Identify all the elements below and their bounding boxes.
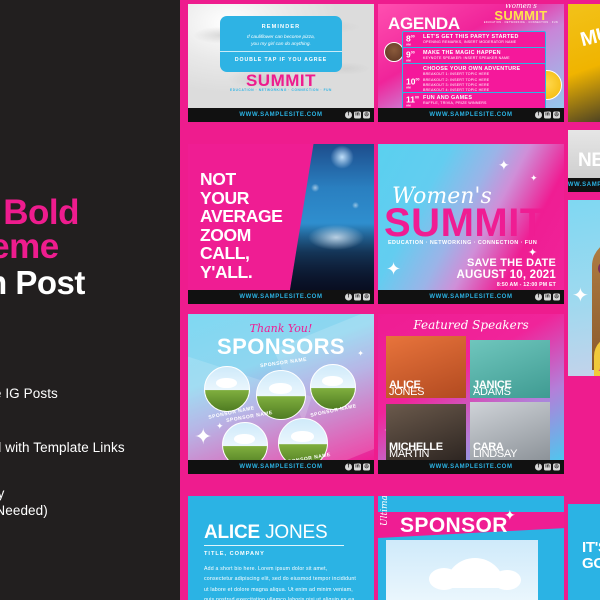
bio-role: TITLE, COMPANY — [204, 551, 265, 557]
reminder-divider — [220, 51, 342, 52]
agenda-logo-main: SUMMIT — [484, 10, 558, 21]
bio-artwork: ALICE JONES TITLE, COMPANY Add a short b… — [188, 496, 374, 600]
promo-bullet-4: count Needed) — [0, 503, 180, 518]
footer-url: WWW.SAMPLESITE.COM — [429, 112, 512, 118]
agenda-row: 1100AM FUN AND GAMES RAFFLE, TRIVIA, PRI… — [402, 92, 546, 108]
facebook-icon: f — [345, 112, 352, 119]
agenda-sub-1: OPENING REMARKS, INSERT MODERATOR NAME — [423, 40, 542, 45]
sponsors-artwork: ✦ ✦ ✦ Thank You! SPONSORS SPONSOR NAME S… — [188, 314, 374, 460]
featured-person-artwork: ✦ ✦ Featured — [568, 200, 600, 376]
sponsor-bottom-script: Ultimate — [380, 496, 390, 526]
speakers-title: Featured Speakers — [378, 318, 564, 332]
card-agenda[interactable]: AGENDA Women's SUMMIT EDUCATION · NETWOR… — [378, 4, 564, 122]
crowd-photo — [290, 144, 374, 290]
sparkle-icon: ✦ — [572, 286, 589, 306]
promo-bullet-3: va Only — [0, 486, 180, 501]
logo-main: SUMMIT — [188, 73, 374, 88]
its-going-artwork: IT'S GOING — [568, 504, 600, 600]
sponsor-bottom-artwork: Ultimate SPONSOR ✦ — [378, 496, 564, 600]
promo-bullet-2: wnload with Template Links — [0, 440, 180, 455]
promo-headline-pink: ht & Bold t Theme — [0, 196, 180, 264]
reminder-artwork: REMINDER If cauliflower can become pizza… — [188, 4, 374, 108]
agenda-sub-2: KEYNOTE SPEAKER: INSERT SPEAKER NAME — [423, 56, 542, 61]
bio-last: JONES — [265, 522, 327, 543]
agenda-sub-4: RAFFLE, TRIVIA, PRIZE WINNERS — [423, 101, 542, 106]
speaker-tile[interactable]: CARA LINDSAY — [470, 402, 550, 460]
instagram-icon: ◎ — [553, 464, 560, 471]
hero-std-label: SAVE THE DATE — [456, 257, 556, 269]
sponsor-logo-bubble — [222, 422, 268, 460]
music-artwork: MUSIC — [568, 4, 600, 122]
hero-tagline: EDUCATION · NETWORKING · CONNECTION · FU… — [388, 240, 537, 246]
footer-url: WWW.SAMPLESITE.COM — [239, 112, 322, 118]
facebook-icon: f — [345, 294, 352, 301]
agenda-avatar-1 — [384, 42, 404, 62]
reminder-body: If cauliflower can become pizza, you my … — [220, 34, 342, 48]
sparkle-icon: ✦ — [498, 158, 510, 172]
hero-main: SUMMIT — [384, 206, 545, 240]
card-its-going[interactable]: IT'S GOING — [568, 504, 600, 600]
instagram-icon: ◎ — [553, 294, 560, 301]
speaker-tile[interactable]: ALICE JONES — [386, 336, 466, 398]
promo-headline-white: gram Post lates — [0, 266, 180, 332]
footer-url: WWW.SAMPLESITE.COM — [239, 464, 322, 470]
bio-name: ALICE JONES — [204, 522, 327, 544]
card-footer: WWW.SAMPLESITE.COM f in ◎ — [378, 460, 564, 474]
footer-url: WWW.SAMPLESITE.COM — [429, 294, 512, 300]
hero-save-the-date: SAVE THE DATE AUGUST 10, 2021 8:50 AM - … — [456, 257, 556, 288]
hero-date: AUGUST 10, 2021 — [456, 269, 556, 281]
card-footer: WWW.SAMPLESITE.COM f in ◎ — [188, 460, 374, 474]
card-reminder[interactable]: REMINDER If cauliflower can become pizza… — [188, 4, 374, 122]
agenda-time-3: 1000AM — [406, 76, 419, 89]
sponsor-logo-bubble — [204, 366, 250, 412]
card-footer: WWW.SAMPLESITE.COM f in ◎ — [188, 108, 374, 122]
zoom-headline: NOT YOUR AVERAGE ZOOM CALL, Y'ALL. — [200, 170, 282, 281]
footer-socials: f in ◎ — [535, 464, 560, 471]
summit-logo-small: Women's SUMMIT EDUCATION · NETWORKING · … — [188, 62, 374, 92]
linkedin-icon: in — [354, 294, 361, 301]
card-sponsor-bottom[interactable]: Ultimate SPONSOR ✦ — [378, 496, 564, 600]
bio-first: ALICE — [204, 522, 260, 543]
zoom-artwork: NOT YOUR AVERAGE ZOOM CALL, Y'ALL. — [188, 144, 374, 290]
facebook-icon: f — [535, 112, 542, 119]
card-zoom-call[interactable]: NOT YOUR AVERAGE ZOOM CALL, Y'ALL. WWW.S… — [188, 144, 374, 304]
bio-divider — [204, 545, 344, 546]
speaker-last-1: JONES — [389, 387, 424, 397]
linkedin-icon: in — [354, 464, 361, 471]
speakers-artwork: ✦ Featured Speakers ALICE JONES JANICE A… — [378, 314, 564, 460]
agenda-time-2: 900AM — [406, 49, 415, 62]
instagram-icon: ◎ — [363, 112, 370, 119]
linkedin-icon: in — [544, 112, 551, 119]
sponsor-bottom-title: SPONSOR — [400, 514, 508, 538]
footer-socials: f in ◎ — [535, 112, 560, 119]
card-summit-hero[interactable]: ✦ ✦ ✦ ✦ Women's SUMMIT EDUCATION · NETWO… — [378, 144, 564, 304]
speaker-last-2: ADAMS — [473, 387, 511, 397]
card-featured-speakers[interactable]: ✦ Featured Speakers ALICE JONES JANICE A… — [378, 314, 564, 474]
hero-artwork: ✦ ✦ ✦ ✦ Women's SUMMIT EDUCATION · NETWO… — [378, 144, 564, 290]
networking-artwork: NETWORKING — [568, 130, 600, 178]
footer-url: WWW.SAMPLESITE.COM — [429, 464, 512, 470]
promo-panel: ht & Bold t Theme gram Post lates nizabl… — [0, 0, 180, 600]
hero-time: 8:50 AM - 12:00 PM ET — [456, 282, 556, 288]
footer-socials: f in ◎ — [535, 294, 560, 301]
networking-label: NETWORKING — [578, 150, 600, 172]
agenda-artwork: AGENDA Women's SUMMIT EDUCATION · NETWOR… — [378, 4, 564, 108]
music-label: MUSIC — [578, 15, 600, 52]
card-networking[interactable]: NETWORKING WWW.SAMPLESITE.COM — [568, 130, 600, 192]
facebook-icon: f — [345, 464, 352, 471]
its-going-label: IT'S GOING — [582, 540, 600, 572]
listing-mockup: ht & Bold t Theme gram Post lates nizabl… — [0, 0, 600, 600]
card-sponsors[interactable]: ✦ ✦ ✦ Thank You! SPONSORS SPONSOR NAME S… — [188, 314, 374, 474]
bio-body: Add a short bio here. Lorem ipsum dolor … — [204, 564, 358, 600]
linkedin-icon: in — [354, 112, 361, 119]
speaker-last-4: LINDSAY — [473, 449, 517, 459]
sparkle-icon: ✦ — [530, 174, 538, 183]
speaker-last-3: MARTIN — [389, 449, 429, 459]
speaker-tile[interactable]: JANICE ADAMS — [470, 340, 550, 398]
card-music[interactable]: MUSIC — [568, 4, 600, 122]
footer-url: WWW.SAMPLESITE.COM — [568, 182, 600, 188]
footer-url: WWW.SAMPLESITE.COM — [239, 294, 322, 300]
promo-headline-group: ht & Bold t Theme gram Post lates — [0, 196, 180, 332]
agenda-time-1: 800AM — [406, 33, 415, 46]
logo-tagline: EDUCATION · NETWORKING · CONNECTION · FU… — [188, 88, 374, 92]
template-grid-sheet: REMINDER If cauliflower can become pizza… — [180, 0, 600, 600]
sparkle-icon: ✦ — [386, 260, 401, 278]
footer-socials: f in ◎ — [345, 294, 370, 301]
linkedin-icon: in — [544, 464, 551, 471]
sponsors-title: SPONSORS — [188, 334, 374, 360]
promo-bullet-1: nizable IG Posts — [0, 386, 180, 401]
agenda-logo: Women's SUMMIT EDUCATION · NETWORKING · … — [484, 4, 558, 24]
speaker-tile[interactable]: MICHELLE MARTIN — [386, 404, 466, 460]
card-footer: WWW.SAMPLESITE.COM f in ◎ — [378, 290, 564, 304]
card-featured-person[interactable]: ✦ ✦ Featured — [568, 200, 600, 376]
agenda-time-4: 1100AM — [406, 94, 419, 107]
card-speaker-bio[interactable]: ALICE JONES TITLE, COMPANY Add a short b… — [188, 496, 374, 600]
card-footer: WWW.SAMPLESITE.COM — [568, 178, 600, 192]
facebook-icon: f — [535, 294, 542, 301]
footer-socials: f in ◎ — [345, 464, 370, 471]
instagram-icon: ◎ — [363, 464, 370, 471]
agenda-logo-tagline: EDUCATION · NETWORKING · CONNECTION · FU… — [484, 21, 558, 24]
facebook-icon: f — [535, 464, 542, 471]
card-footer: WWW.SAMPLESITE.COM f in ◎ — [378, 108, 564, 122]
reminder-title: REMINDER — [220, 24, 342, 30]
instagram-icon: ◎ — [363, 294, 370, 301]
linkedin-icon: in — [544, 294, 551, 301]
footer-socials: f in ◎ — [345, 112, 370, 119]
card-footer: WWW.SAMPLESITE.COM f in ◎ — [188, 290, 374, 304]
sponsor-logo-bubble — [310, 364, 356, 410]
instagram-icon: ◎ — [553, 112, 560, 119]
